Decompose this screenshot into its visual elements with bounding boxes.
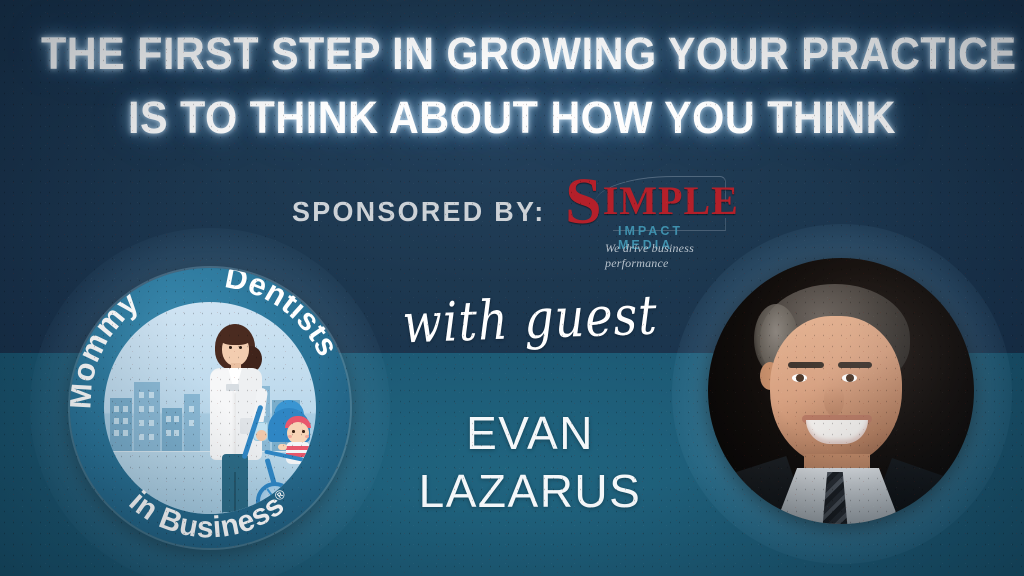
with-guest-label: with guest <box>399 283 661 356</box>
guest-first-name: EVAN <box>466 407 594 459</box>
badge-arc-in-business: in Business® <box>123 485 291 544</box>
title-line-1: THE FIRST STEP IN GROWING YOUR PRACTICE <box>41 22 983 86</box>
guest-headshot-photo <box>708 258 974 524</box>
episode-title-card: THE FIRST STEP IN GROWING YOUR PRACTICE … <box>0 0 1024 576</box>
title-line-2: IS TO THINK ABOUT HOW YOU THINK <box>41 86 983 150</box>
badge-arc-dentists: Dentists <box>222 268 346 362</box>
sponsor-row: SPONSORED BY: SIMPLE IMPACT MEDIA We dri… <box>0 180 1024 260</box>
guest-name: EVAN LAZARUS <box>370 404 690 520</box>
logo-wordmark: SIMPLE <box>565 174 739 228</box>
sponsored-by-label: SPONSORED BY: <box>292 196 545 228</box>
badge-word-in-business: in Business <box>123 485 291 544</box>
badge-word-dentists: Dentists <box>222 268 346 362</box>
simple-impact-media-logo: SIMPLE IMPACT MEDIA We drive business pe… <box>565 172 730 262</box>
logo-wordmark-rest: IMPLE <box>603 178 739 223</box>
episode-title: THE FIRST STEP IN GROWING YOUR PRACTICE … <box>0 22 1024 150</box>
badge-arc-mommy: Mommy <box>70 284 145 410</box>
logo-initial-s: S <box>565 165 603 238</box>
logo-tagline: We drive business performance <box>605 241 730 271</box>
badge-ring-text: Mommy Dentists in Business® <box>70 268 350 548</box>
badge-word-mommy: Mommy <box>70 284 145 410</box>
mommy-dentists-in-business-logo: Mommy Dentists in Business® <box>70 268 350 548</box>
guest-last-name: LAZARUS <box>419 465 642 517</box>
